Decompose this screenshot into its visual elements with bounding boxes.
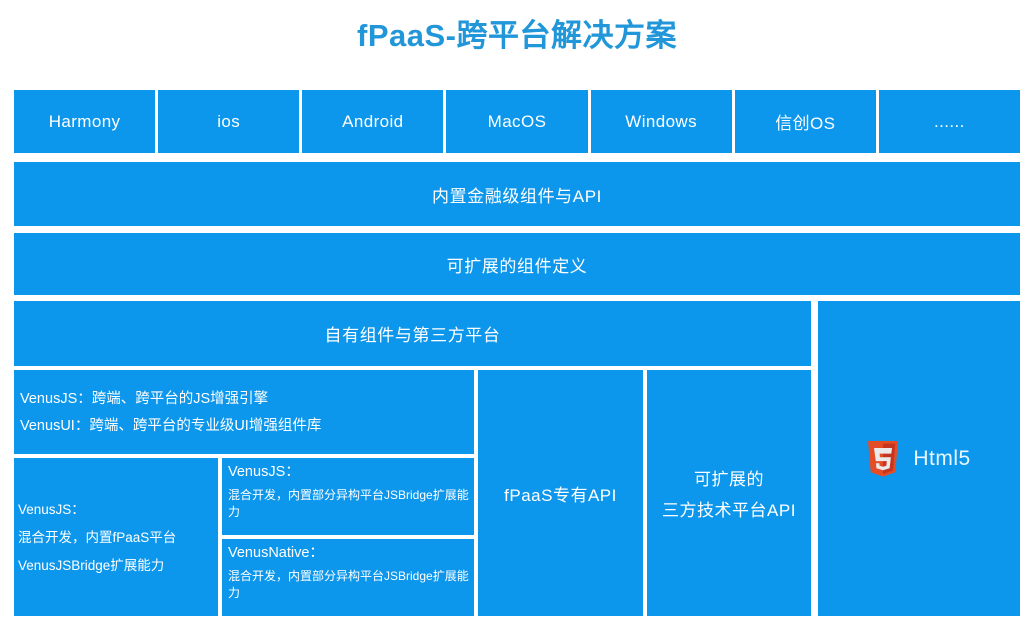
venus-summary-block[interactable]: VenusJS：跨端、跨平台的JS增强引擎 VenusUI：跨端、跨平台的专业级… [14, 370, 474, 454]
venusui-summary-line: VenusUI：跨端、跨平台的专业级UI增强组件库 [20, 417, 321, 435]
platform-label: Windows [625, 112, 697, 132]
venusjs-heterogeneous-title: VenusJS： [228, 463, 300, 481]
platform-label: Harmony [49, 112, 121, 132]
platform-cell-macos[interactable]: MacOS [446, 90, 587, 153]
builtin-api-bar[interactable]: 内置金融级组件与API [14, 162, 1020, 226]
platform-cell-ios[interactable]: ios [158, 90, 299, 153]
builtin-api-label: 内置金融级组件与API [432, 182, 602, 207]
venusjs-hybrid-title: VenusJS： [18, 501, 85, 518]
venusjs-hybrid-body-line2: VenusJSBridge扩展能力 [18, 557, 164, 574]
venusjs-heterogeneous-body: 混合开发，内置部分异构平台JSBridge扩展能力 [228, 487, 470, 521]
venusjs-summary-line: VenusJS：跨端、跨平台的JS增强引擎 [20, 390, 268, 408]
platform-label: MacOS [488, 112, 547, 132]
venusnative-heterogeneous-cell[interactable]: VenusNative： 混合开发，内置部分异构平台JSBridge扩展能力 [222, 539, 474, 616]
platform-label: Android [342, 112, 403, 132]
fpaas-proprietary-api-cell[interactable]: fPaaS专有API [478, 370, 643, 616]
fpaas-proprietary-api-label: fPaaS专有API [504, 481, 617, 506]
platform-cell-xinchuang-os[interactable]: 信创OS [735, 90, 876, 153]
venusnative-heterogeneous-title: VenusNative： [228, 544, 324, 562]
own-and-thirdparty-bar[interactable]: 自有组件与第三方平台 [14, 301, 811, 366]
extensible-components-label: 可扩展的组件定义 [447, 252, 588, 277]
platform-cell-windows[interactable]: Windows [591, 90, 732, 153]
diagram-root: fPaaS-跨平台解决方案 Harmony ios Android MacOS … [0, 0, 1034, 634]
html5-label: Html5 [913, 447, 970, 471]
html5-shield-icon [867, 441, 899, 477]
thirdparty-platform-api-cell[interactable]: 可扩展的 三方技术平台API [647, 370, 811, 616]
venusnative-heterogeneous-body: 混合开发，内置部分异构平台JSBridge扩展能力 [228, 568, 470, 602]
page-title: fPaaS-跨平台解决方案 [0, 16, 1034, 56]
platform-cell-harmony[interactable]: Harmony [14, 90, 155, 153]
platform-row: Harmony ios Android MacOS Windows 信创OS .… [14, 90, 1020, 153]
platform-label: 信创OS [775, 109, 835, 134]
thirdparty-platform-api-line2: 三方技术平台API [662, 496, 796, 521]
platform-cell-android[interactable]: Android [302, 90, 443, 153]
venusjs-hybrid-body-line1: 混合开发，内置fPaaS平台 [18, 529, 176, 546]
platform-label: ios [217, 112, 240, 132]
html5-cell[interactable]: Html5 [818, 301, 1020, 616]
thirdparty-platform-api-line1: 可扩展的 [694, 465, 764, 490]
extensible-components-bar[interactable]: 可扩展的组件定义 [14, 233, 1020, 295]
platform-cell-more[interactable]: ...... [879, 90, 1020, 153]
venusjs-hybrid-cell[interactable]: VenusJS： 混合开发，内置fPaaS平台 VenusJSBridge扩展能… [14, 458, 218, 616]
own-and-thirdparty-label: 自有组件与第三方平台 [325, 321, 501, 346]
platform-label: ...... [934, 112, 965, 132]
venusjs-heterogeneous-cell[interactable]: VenusJS： 混合开发，内置部分异构平台JSBridge扩展能力 [222, 458, 474, 535]
